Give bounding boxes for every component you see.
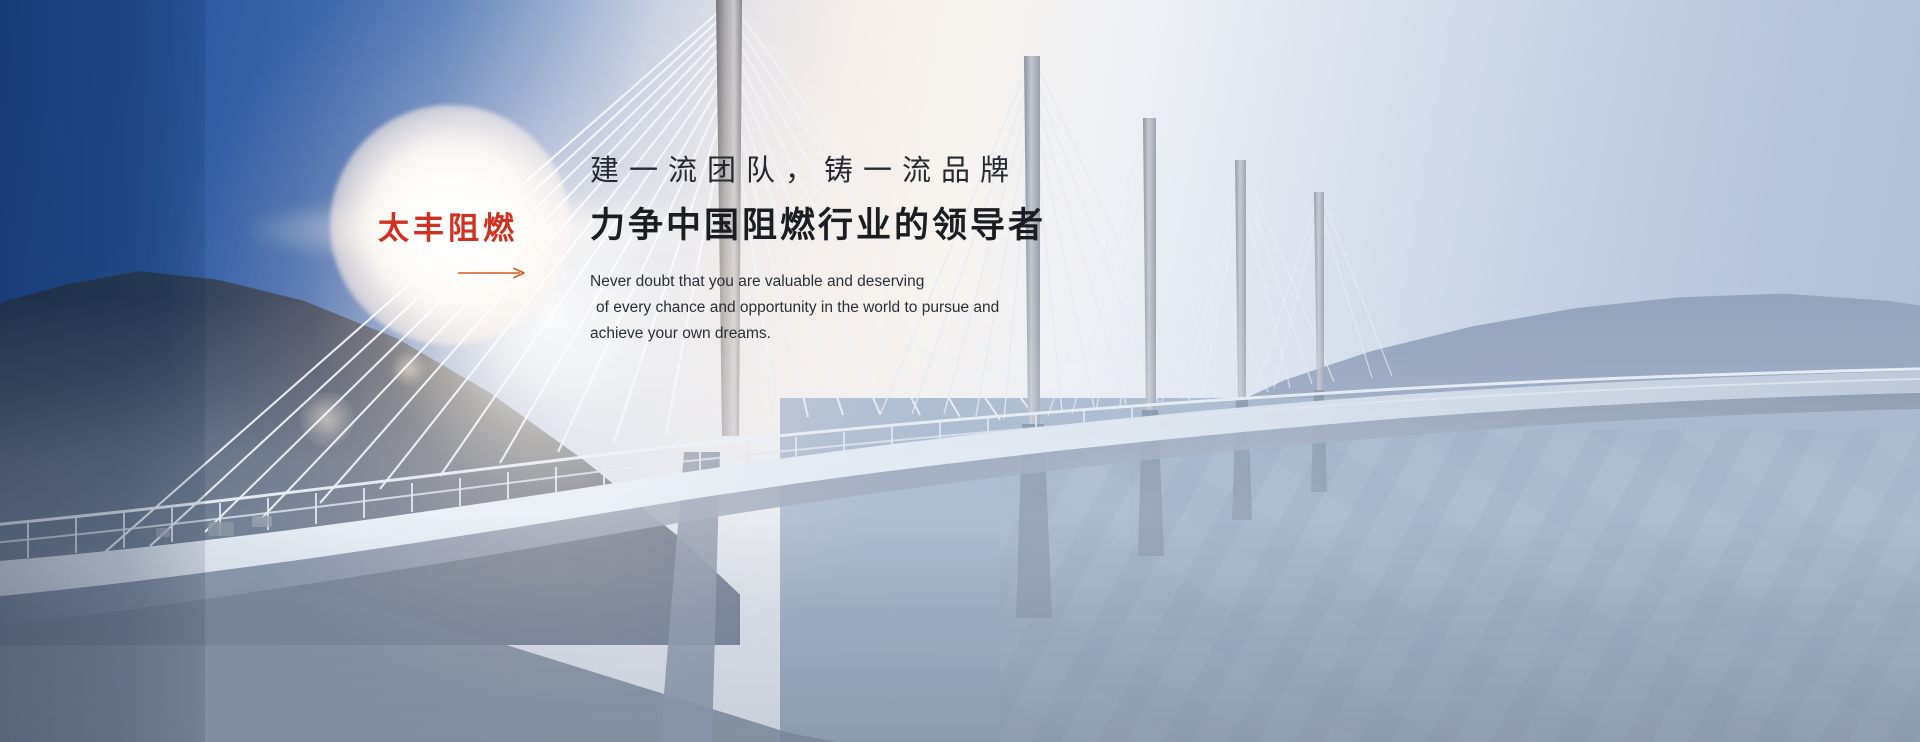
body-copy-line-2: of every chance and opportunity in the w… (590, 295, 1060, 321)
long-right-arrow-icon (458, 266, 528, 280)
headline-block: 建一流团队，铸一流品牌 力争中国阻燃行业的领导者 Never doubt tha… (590, 152, 1130, 347)
brand-logo-text: 太丰阻燃 (378, 214, 548, 245)
banner-content: 太丰阻燃 建一流团队，铸一流品牌 力争中国阻燃行业的领导者 Never doub… (0, 0, 1920, 742)
body-copy-line-1: Never doubt that you are valuable and de… (590, 269, 1060, 295)
body-copy: Never doubt that you are valuable and de… (590, 269, 1060, 347)
headline-line-2: 力争中国阻燃行业的领导者 (590, 205, 1130, 248)
brand-logo[interactable]: 太丰阻燃 (378, 214, 548, 245)
hero-banner: 太丰阻燃 建一流团队，铸一流品牌 力争中国阻燃行业的领导者 Never doub… (0, 0, 1920, 742)
body-copy-line-3: achieve your own dreams. (590, 321, 1060, 347)
headline-line-1: 建一流团队，铸一流品牌 (590, 152, 1130, 188)
